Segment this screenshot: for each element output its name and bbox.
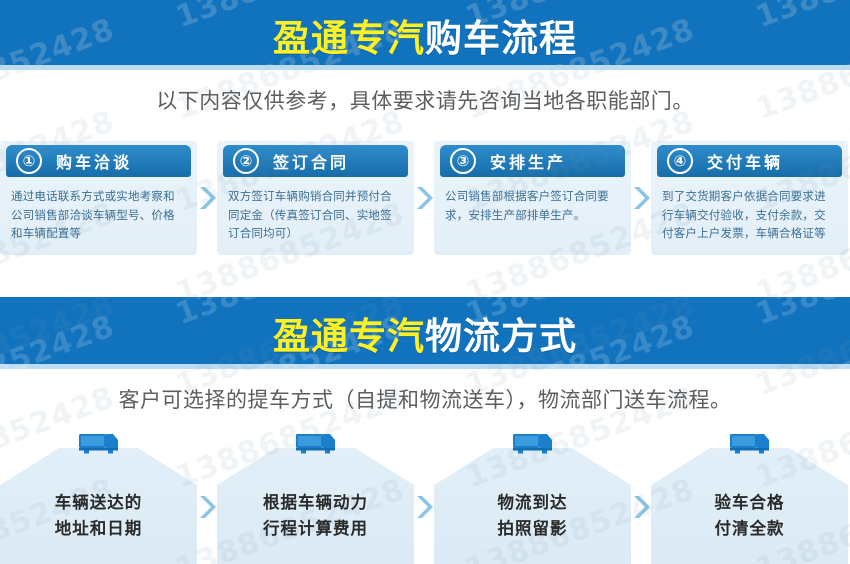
watermark-text: 13886852428	[0, 12, 119, 70]
logistics-line2-4: 付清全款	[715, 516, 785, 542]
step-card-2: ②签订合同双方签订车辆购销合同并预付合同定金（传真签订合同、实地签订合同均可）	[217, 141, 414, 255]
banner-title-logistics: 盈通专汽物流方式	[273, 306, 577, 360]
step-number-badge-3: ③	[450, 148, 476, 174]
watermark-text: 13886852428	[0, 297, 119, 332]
truck-icon-wrap-2	[294, 430, 338, 460]
step-arrow-2	[414, 141, 434, 255]
logistics-arrow-1	[197, 428, 217, 564]
purchase-subtitle: 以下内容仅供参考，具体要求请先咨询当地各职能部门。	[0, 85, 850, 115]
truck-icon-wrap-4	[728, 430, 772, 460]
step-card-4: ④交付车辆到了交货期客户依据合同要求进行车辆交付验收，支付余款，交付客户上户发票…	[651, 141, 848, 255]
logistics-card-4: 验车合格付清全款	[651, 428, 848, 564]
step-body-2: 双方签订车辆购销合同并预付合同定金（传真签订合同、实地签订合同均可）	[217, 177, 414, 243]
watermark-text: 13886852428	[751, 0, 850, 35]
step-title-3: 安排生产	[490, 149, 566, 173]
purchase-process-banner: 1388685242813886852428138868524281388685…	[0, 0, 850, 70]
banner-title-purchase: 盈通专汽购车流程	[273, 8, 577, 62]
step-title-4: 交付车辆	[707, 149, 783, 173]
infographic-page: 1388685242813886852428138868524281388685…	[0, 0, 850, 564]
logistics-line2-2: 行程计算费用	[263, 516, 368, 542]
chevron-right-icon	[197, 494, 217, 520]
step-title-2: 签订合同	[273, 149, 349, 173]
step-body-4: 到了交货期客户依据合同要求进行车辆交付验收，支付余款，交付客户上户发票，车辆合格…	[651, 177, 848, 243]
chevron-right-icon	[414, 185, 434, 211]
banner-underline	[0, 65, 850, 70]
watermark-text: 13886852428	[751, 309, 850, 369]
chevron-right-icon	[197, 185, 217, 211]
purchase-steps-row: ①购车洽谈通过电话联系方式或实地考察和公司销售部洽谈车辆型号、价格和车辆配置等②…	[0, 141, 850, 261]
watermark-text: 13886852428	[751, 12, 850, 70]
brand-name-text: 盈通专汽	[273, 17, 425, 60]
step-header-4: ④交付车辆	[657, 145, 842, 177]
chevron-right-icon	[631, 494, 651, 520]
step-arrow-3	[631, 141, 651, 255]
logistics-cards-row: 车辆送达的地址和日期根据车辆动力行程计算费用物流到达拍照留影验车合格付清全款	[0, 428, 850, 564]
watermark-text: 13886852428	[0, 0, 119, 35]
truck-icon	[511, 430, 555, 456]
step-card-3: ③安排生产公司销售部根据客户签订合同要求，安排生产部排单生产。	[434, 141, 631, 255]
watermark-text: 13886852428	[0, 309, 119, 369]
step-body-3: 公司销售部根据客户签订合同要求，安排生产部排单生产。	[434, 177, 631, 224]
logistics-line1-2: 根据车辆动力	[263, 490, 368, 516]
step-header-1: ①购车洽谈	[6, 145, 191, 177]
truck-icon	[294, 430, 338, 456]
logistics-card-1: 车辆送达的地址和日期	[0, 428, 197, 564]
logistics-card-3: 物流到达拍照留影	[434, 428, 631, 564]
step-header-2: ②签订合同	[223, 145, 408, 177]
logistics-card-2: 根据车辆动力行程计算费用	[217, 428, 414, 564]
watermark-text: 13886852428	[751, 297, 850, 332]
logistics-subtitle: 客户可选择的提车方式（自提和物流送车），物流部门送车流程。	[0, 384, 850, 414]
banner-title-text: 购车流程	[425, 17, 577, 60]
logistics-line2-1: 地址和日期	[55, 516, 143, 542]
logistics-arrow-2	[414, 428, 434, 564]
logistics-card-text-1: 车辆送达的地址和日期	[55, 490, 143, 541]
logistics-line1-3: 物流到达	[498, 490, 568, 516]
step-card-1: ①购车洽谈通过电话联系方式或实地考察和公司销售部洽谈车辆型号、价格和车辆配置等	[0, 141, 197, 255]
logistics-banner: 1388685242813886852428138868524281388685…	[0, 297, 850, 369]
step-number-badge-1: ①	[16, 148, 42, 174]
logistics-card-text-3: 物流到达拍照留影	[498, 490, 568, 541]
brand-name-text-2: 盈通专汽	[273, 315, 425, 358]
step-number-badge-4: ④	[667, 148, 693, 174]
logistics-card-text-4: 验车合格付清全款	[715, 490, 785, 541]
chevron-right-icon	[414, 494, 434, 520]
step-arrow-1	[197, 141, 217, 255]
chevron-right-icon	[631, 185, 651, 211]
truck-icon	[728, 430, 772, 456]
logistics-card-text-2: 根据车辆动力行程计算费用	[263, 490, 368, 541]
truck-icon	[77, 430, 121, 456]
logistics-arrow-3	[631, 428, 651, 564]
logistics-line1-1: 车辆送达的	[55, 490, 143, 516]
truck-icon-wrap-3	[511, 430, 555, 460]
step-title-1: 购车洽谈	[56, 149, 132, 173]
logistics-line1-4: 验车合格	[715, 490, 785, 516]
banner-title-text-2: 物流方式	[425, 315, 577, 358]
step-header-3: ③安排生产	[440, 145, 625, 177]
step-number-badge-2: ②	[233, 148, 259, 174]
logistics-line2-3: 拍照留影	[498, 516, 568, 542]
truck-icon-wrap-1	[77, 430, 121, 460]
step-body-1: 通过电话联系方式或实地考察和公司销售部洽谈车辆型号、价格和车辆配置等	[0, 177, 197, 243]
banner2-underline	[0, 364, 850, 369]
